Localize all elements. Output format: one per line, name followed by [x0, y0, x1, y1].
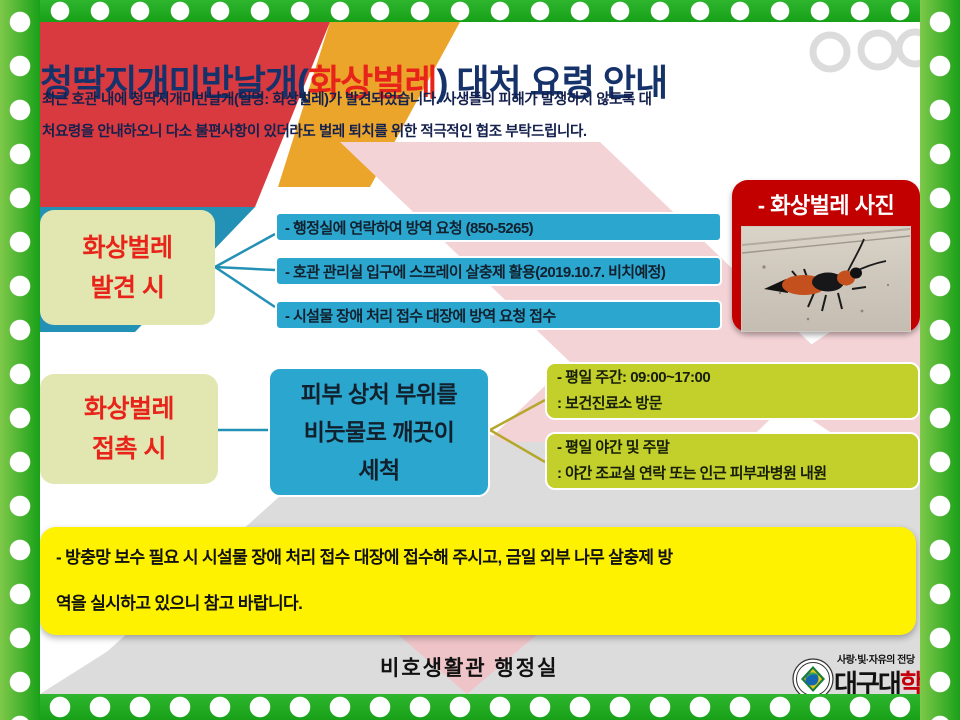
bug-photo-caption: - 화상벌레 사진	[758, 188, 895, 220]
contact-action-line-2: 비눗물로 깨끗이	[301, 413, 457, 451]
found-section-label: 화상벌레 발견 시	[40, 210, 215, 325]
contact-action-box: 피부 상처 부위를 비눗물로 깨끗이 세척	[268, 367, 490, 497]
found-action-2-text: - 호관 관리실 입구에 스프레이 살충제 활용(2019.10.7. 비치예정…	[285, 261, 665, 282]
frame-border-bottom	[0, 694, 960, 720]
university-logo: 사랑·빛·자유의 전당 대구대학교	[792, 654, 920, 694]
found-label-line-1: 화상벌레	[82, 228, 172, 268]
contact-option-daytime-line-1: - 평일 주간: 09:00~17:00	[557, 365, 710, 391]
frame-border-top	[0, 0, 960, 22]
found-action-2: - 호관 관리실 입구에 스프레이 살충제 활용(2019.10.7. 비치예정…	[275, 256, 722, 286]
frame-border-right	[920, 0, 960, 720]
contact-option-night-line-2: : 야간 조교실 연락 또는 인근 피부과병원 내원	[557, 461, 827, 487]
contact-option-night: - 평일 야간 및 주말 : 야간 조교실 연락 또는 인근 피부과병원 내원	[545, 432, 920, 490]
footer-department: 비호생활관 행정실	[380, 652, 558, 682]
poster-root: 청딱지개미반날개(화상벌레) 대처 요령 안내 최근 호관 내에 청딱지개미반날…	[0, 0, 960, 720]
contact-option-night-line-1: - 평일 야간 및 주말	[557, 435, 669, 461]
bottom-notice-line-2: 역을 실시하고 있으니 참고 바랍니다.	[56, 581, 302, 627]
logo-name-part-1: 대구대	[834, 669, 900, 694]
intro-paragraph: 최근 호관 내에 청딱지개미반날개(일명: 화상벌레)가 발견되었습니다. 사생…	[42, 84, 914, 148]
found-action-1-text: - 행정실에 연락하여 방역 요청 (850-5265)	[285, 217, 533, 238]
found-label-line-2: 발견 시	[82, 268, 172, 308]
university-emblem-icon	[792, 658, 834, 694]
logo-name: 대구대학교	[834, 664, 920, 694]
contact-action-line-1: 피부 상처 부위를	[301, 375, 457, 413]
contact-label-line-1: 화상벌레	[84, 389, 174, 429]
bug-photo-image	[741, 226, 911, 332]
found-action-1: - 행정실에 연락하여 방역 요청 (850-5265)	[275, 212, 722, 242]
logo-name-part-2: 학교	[900, 669, 920, 694]
found-action-3: - 시설물 장애 처리 접수 대장에 방역 요청 접수	[275, 300, 722, 330]
found-action-3-text: - 시설물 장애 처리 접수 대장에 방역 요청 접수	[285, 305, 556, 326]
bottom-notice-box: - 방충망 보수 필요 시 시설물 장애 처리 접수 대장에 접수해 주시고, …	[40, 527, 916, 635]
bug-photo-panel: - 화상벌레 사진	[732, 180, 920, 332]
contact-option-daytime-line-2: : 보건진료소 방문	[557, 391, 662, 417]
frame-border-left	[0, 0, 40, 720]
bottom-notice-line-1: - 방충망 보수 필요 시 시설물 장애 처리 접수 대장에 접수해 주시고, …	[56, 535, 673, 581]
contact-option-daytime: - 평일 주간: 09:00~17:00 : 보건진료소 방문	[545, 362, 920, 420]
poster-canvas: 청딱지개미반날개(화상벌레) 대처 요령 안내 최근 호관 내에 청딱지개미반날…	[40, 22, 920, 694]
contact-label-line-2: 접촉 시	[84, 429, 174, 469]
intro-line-2: 처요령을 안내하오니 다소 불편사항이 있더라도 벌레 퇴치를 위한 적극적인 …	[42, 116, 914, 148]
contact-section-label: 화상벌레 접촉 시	[40, 374, 218, 484]
intro-line-1: 최근 호관 내에 청딱지개미반날개(일명: 화상벌레)가 발견되었습니다. 사생…	[42, 84, 914, 116]
contact-action-line-3: 세척	[301, 451, 457, 489]
